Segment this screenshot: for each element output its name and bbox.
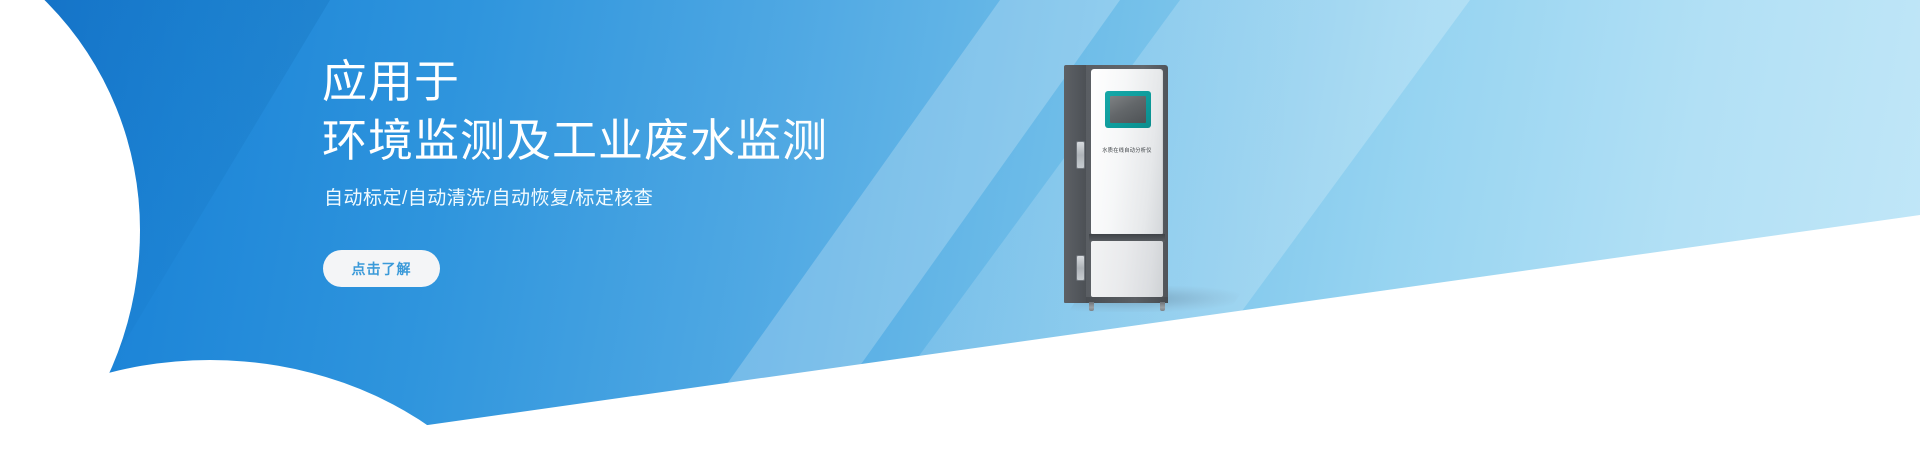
lower-door-handle: [1076, 255, 1085, 281]
banner-headline: 应用于 环境监测及工业废水监测: [322, 52, 828, 170]
banner-content: 应用于 环境监测及工业废水监测 自动标定/自动清洗/自动恢复/标定核查 点击了解: [322, 0, 1022, 450]
headline-line-2: 环境监测及工业废水监测: [322, 111, 828, 170]
cabinet-base: [1086, 297, 1168, 303]
upper-door-handle: [1076, 141, 1085, 169]
learn-more-button[interactable]: 点击了解: [323, 250, 440, 287]
headline-line-1: 应用于: [322, 52, 828, 111]
display-screen: [1110, 96, 1146, 123]
cabinet-lower-door: [1091, 241, 1163, 297]
banner-subheadline: 自动标定/自动清洗/自动恢复/标定核查: [324, 185, 653, 213]
product-image: 水质在线自动分析仪: [1055, 60, 1275, 330]
product-label: 水质在线自动分析仪: [1094, 147, 1160, 155]
display-bezel: [1105, 91, 1151, 128]
analyzer-cabinet: 水质在线自动分析仪: [1064, 65, 1165, 303]
hero-banner: 应用于 环境监测及工业废水监测 自动标定/自动清洗/自动恢复/标定核查 点击了解…: [0, 0, 1920, 450]
caster-right-icon: [1160, 302, 1165, 311]
caster-left-icon: [1089, 302, 1094, 311]
